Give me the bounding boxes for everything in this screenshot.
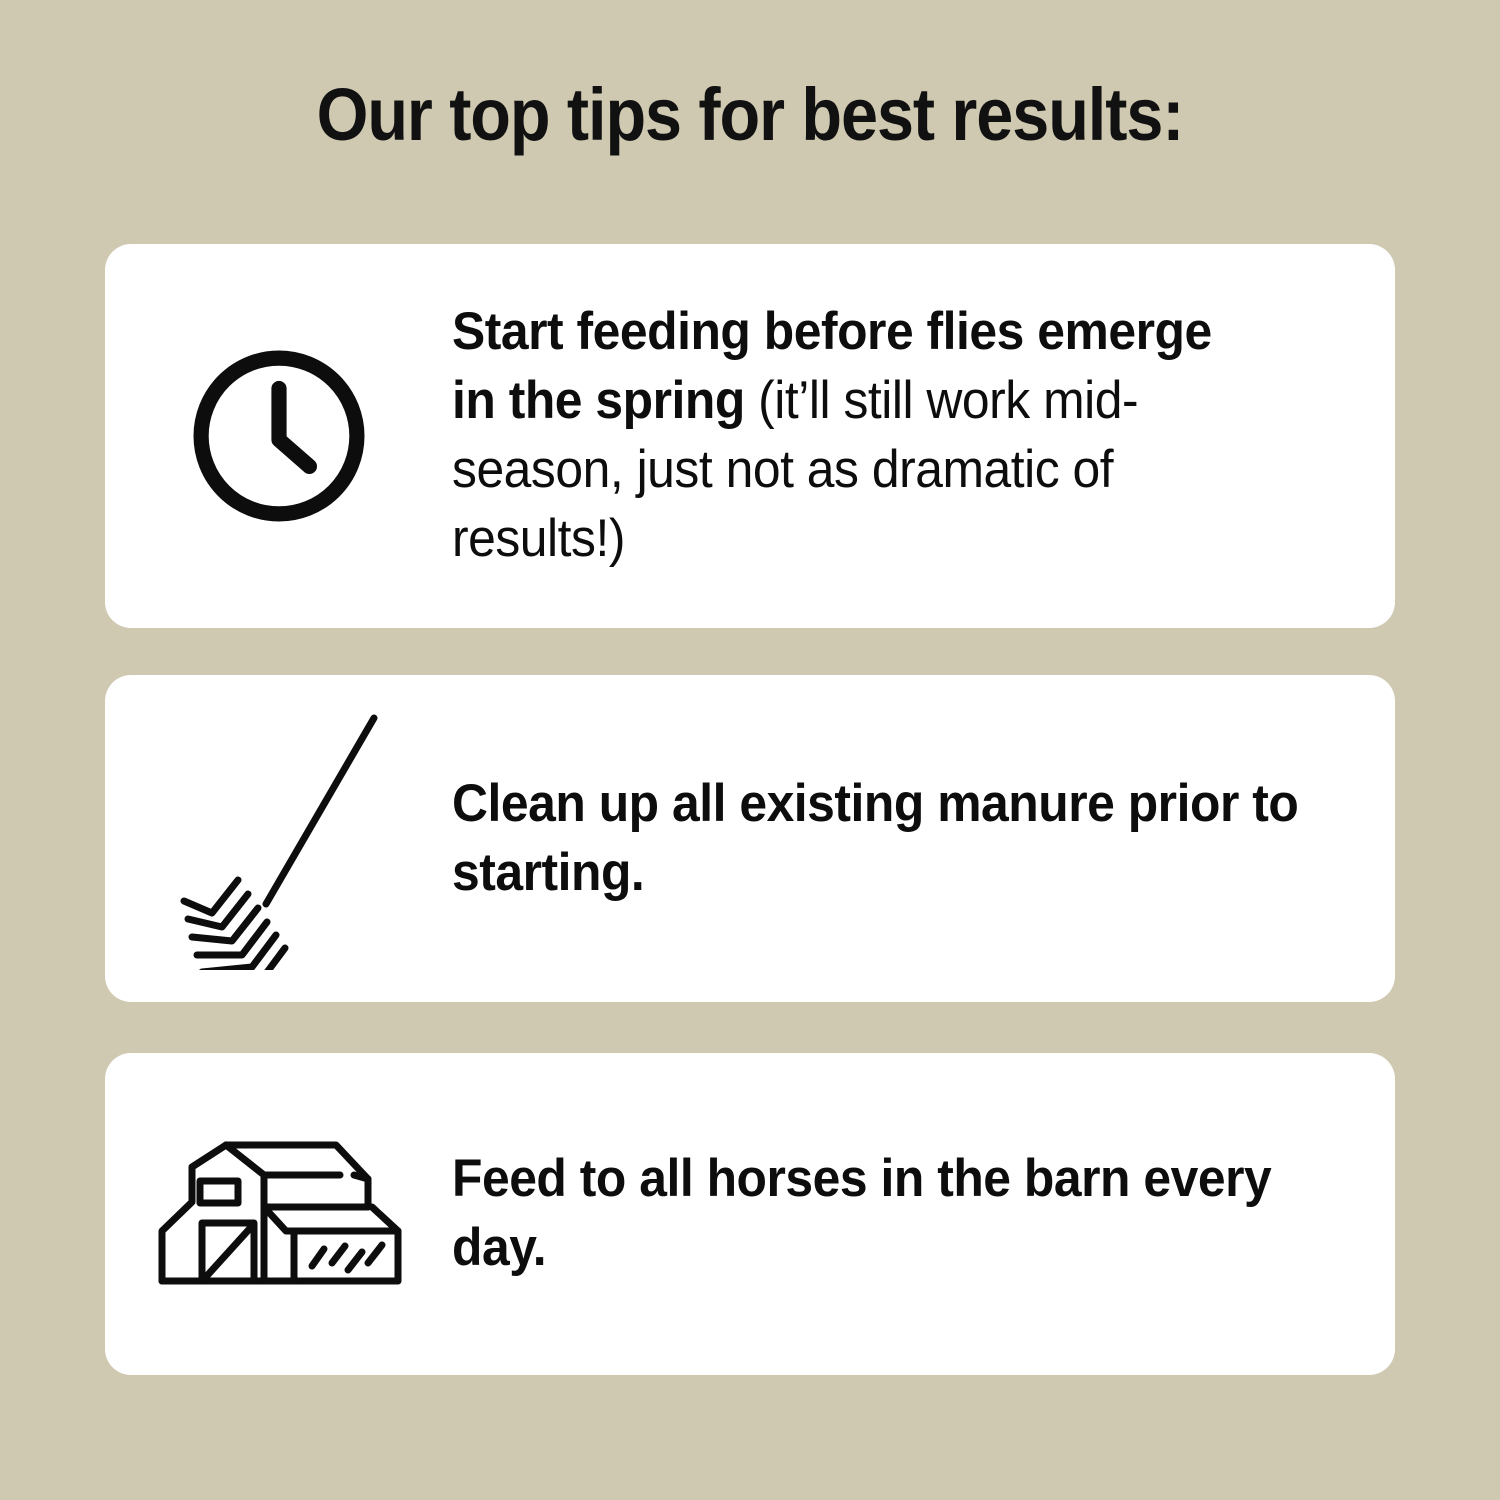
tip-card-3: Feed to all horses in the barn every day… (105, 1053, 1395, 1375)
tip-text-1: Start feeding before flies emerge in the… (452, 298, 1338, 574)
tip-icon-2-wrapper (105, 704, 452, 974)
clock-icon (184, 341, 374, 531)
tip-card-1: Start feeding before flies emerge in the… (105, 244, 1395, 628)
tip-card-2: Clean up all existing manure prior to st… (105, 675, 1395, 1002)
barn-icon (154, 1139, 404, 1289)
tips-infographic: Our top tips for best results: Start fee… (0, 0, 1500, 1500)
page-title: Our top tips for best results: (75, 78, 1425, 152)
pitchfork-icon (166, 708, 391, 970)
tip-icon-1-wrapper (105, 341, 452, 531)
tip-lead-3: Feed to all horses in the barn every day… (452, 1149, 1271, 1277)
tip-text-3: Feed to all horses in the barn every day… (452, 1145, 1338, 1283)
tip-text-2: Clean up all existing manure prior to st… (452, 770, 1338, 908)
tip-icon-3-wrapper (105, 1134, 452, 1294)
tip-lead-2: Clean up all existing manure prior to st… (452, 774, 1298, 902)
